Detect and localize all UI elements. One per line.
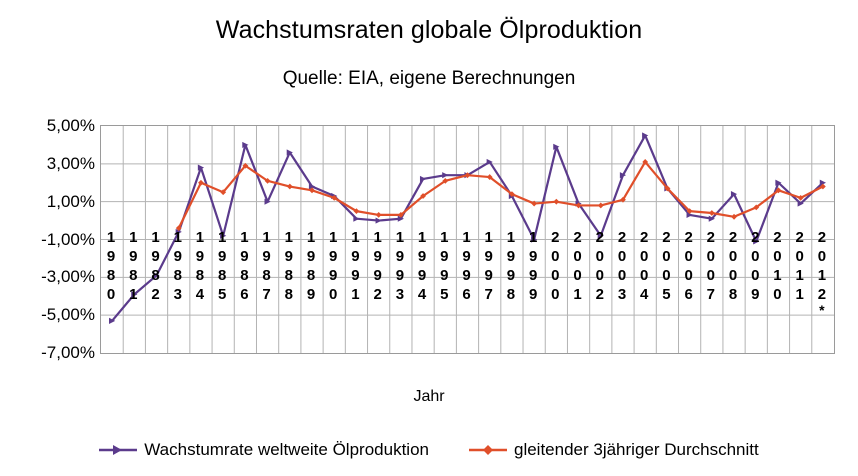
year-digit: 9 (456, 247, 478, 266)
x-tick-label: 2010 (766, 228, 788, 304)
data-point-marker (353, 216, 359, 222)
y-tick-label: 5,00% (3, 117, 95, 134)
year-digit: 2 (544, 228, 566, 247)
legend-item-average[interactable]: gleitender 3jähriger Durchschnitt (469, 440, 759, 460)
x-tick-label: 1983 (167, 228, 189, 304)
year-digit: 8 (300, 266, 322, 285)
year-digit: 0 (811, 247, 833, 266)
year-digit: 0 (678, 266, 700, 285)
year-digit: 0 (589, 247, 611, 266)
year-digit: 1 (233, 228, 255, 247)
year-digit: 6 (456, 285, 478, 304)
year-digit: 9 (522, 285, 544, 304)
year-digit: 0 (700, 247, 722, 266)
year-digit: 0 (722, 247, 744, 266)
year-digit: 2 (744, 228, 766, 247)
legend-swatch-diamond-icon (469, 443, 507, 457)
year-digit: 0 (322, 285, 344, 304)
year-digit: 1 (567, 285, 589, 304)
year-digit: 9 (322, 247, 344, 266)
year-digit: 1 (500, 228, 522, 247)
year-digit: 1 (122, 228, 144, 247)
year-digit: 9 (300, 285, 322, 304)
year-digit: 9 (433, 266, 455, 285)
year-digit: 1 (411, 228, 433, 247)
year-digit: 1 (300, 228, 322, 247)
year-digit: 2 (789, 228, 811, 247)
year-digit: 9 (433, 247, 455, 266)
x-tick-label: 1991 (344, 228, 366, 304)
year-digit: 7 (256, 285, 278, 304)
x-tick-label: 1998 (500, 228, 522, 304)
year-digit: 0 (766, 285, 788, 304)
year-digit: 8 (500, 285, 522, 304)
year-digit: 2 (633, 228, 655, 247)
year-digit: 0 (611, 266, 633, 285)
year-digit: 0 (100, 285, 122, 304)
year-digit: 9 (744, 285, 766, 304)
year-digit: 8 (211, 266, 233, 285)
x-tick-label: 1985 (211, 228, 233, 304)
data-point-marker (553, 199, 559, 205)
x-tick-label: 2007 (700, 228, 722, 304)
year-digit: 0 (700, 266, 722, 285)
year-digit: 5 (655, 285, 677, 304)
year-digit: 9 (256, 247, 278, 266)
year-digit: 2 (811, 228, 833, 247)
year-digit: 9 (211, 247, 233, 266)
year-digit: 0 (633, 266, 655, 285)
year-digit: 2 (766, 228, 788, 247)
x-tick-label: 2008 (722, 228, 744, 304)
x-axis-year-labels: 1980198119821983198419851986198719881989… (100, 228, 835, 348)
year-digit: 3 (611, 285, 633, 304)
year-digit: 9 (233, 247, 255, 266)
year-digit: 9 (389, 247, 411, 266)
year-digit: 0 (567, 247, 589, 266)
year-digit: 8 (122, 266, 144, 285)
year-digit: 9 (522, 247, 544, 266)
y-tick-label: -7,00% (3, 344, 95, 361)
x-tick-label: 1982 (145, 228, 167, 304)
year-digit: 9 (367, 266, 389, 285)
year-digit: 4 (189, 285, 211, 304)
chart-subtitle: Quelle: EIA, eigene Berechnungen (0, 68, 858, 90)
legend-label: gleitender 3jähriger Durchschnitt (514, 440, 759, 460)
year-digit: 0 (589, 266, 611, 285)
x-tick-label: 2000 (544, 228, 566, 304)
year-digit: 8 (233, 266, 255, 285)
year-digit: 0 (544, 285, 566, 304)
year-digit: 4 (411, 285, 433, 304)
year-digit: 8 (256, 266, 278, 285)
year-digit: 8 (278, 266, 300, 285)
y-tick-label: -3,00% (3, 268, 95, 285)
x-tick-label: 2003 (611, 228, 633, 304)
year-digit: 0 (655, 266, 677, 285)
x-tick-label: 2011 (789, 228, 811, 304)
year-digit: 7 (700, 285, 722, 304)
year-digit: 1 (522, 228, 544, 247)
year-digit: 8 (722, 285, 744, 304)
year-digit: 9 (278, 247, 300, 266)
x-tick-label: 2001 (567, 228, 589, 304)
y-tick-label: 1,00% (3, 193, 95, 210)
year-digit: 2 (567, 228, 589, 247)
year-digit: 1 (766, 266, 788, 285)
x-tick-label: 1987 (256, 228, 278, 304)
year-digit: 0 (633, 247, 655, 266)
year-digit: 2 (589, 228, 611, 247)
legend-label: Wachstumrate weltweite Ölproduktion (144, 440, 429, 460)
y-tick-label: -1,00% (3, 231, 95, 248)
year-digit: 9 (167, 247, 189, 266)
year-digit: 1 (322, 228, 344, 247)
year-digit: 2 (700, 228, 722, 247)
year-digit: 2 (655, 228, 677, 247)
year-digit: 9 (478, 247, 500, 266)
x-tick-label: 1990 (322, 228, 344, 304)
chart-page: Wachstumsraten globale Ölproduktion Quel… (0, 0, 858, 476)
year-digit: 8 (278, 285, 300, 304)
year-digit: 3 (389, 285, 411, 304)
year-digit: 8 (189, 266, 211, 285)
x-tick-label: 1995 (433, 228, 455, 304)
year-digit: 8 (145, 266, 167, 285)
legend-swatch-triangle-icon (99, 443, 137, 457)
year-digit: 1 (367, 228, 389, 247)
year-digit: 1 (189, 228, 211, 247)
year-digit: 9 (522, 266, 544, 285)
year-digit: 9 (500, 266, 522, 285)
year-digit: 9 (322, 266, 344, 285)
x-tick-label: 1986 (233, 228, 255, 304)
y-tick-label: -5,00% (3, 306, 95, 323)
x-tick-label: 2004 (633, 228, 655, 304)
year-digit: 1 (167, 228, 189, 247)
x-tick-label: 1984 (189, 228, 211, 304)
year-digit: 2 (678, 228, 700, 247)
year-digit: 0 (567, 266, 589, 285)
legend-item-growth[interactable]: Wachstumrate weltweite Ölproduktion (99, 440, 429, 460)
year-digit: 4 (633, 285, 655, 304)
year-digit: 1 (433, 228, 455, 247)
year-digit: 0 (744, 266, 766, 285)
year-digit: 1 (256, 228, 278, 247)
year-digit: 9 (344, 247, 366, 266)
x-tick-label: 2006 (678, 228, 700, 304)
year-digit: 7 (478, 285, 500, 304)
year-digit: 8 (167, 266, 189, 285)
year-digit: 2 (589, 285, 611, 304)
year-digit: 0 (544, 266, 566, 285)
year-digit: 9 (100, 247, 122, 266)
x-tick-label: 1989 (300, 228, 322, 304)
year-digit: 1 (344, 228, 366, 247)
data-point-marker (287, 184, 293, 190)
chart-legend: Wachstumrate weltweite Ölproduktiongleit… (0, 440, 858, 460)
year-digit: 0 (655, 247, 677, 266)
data-point-marker (376, 217, 382, 223)
x-tick-label: 2002 (589, 228, 611, 304)
year-digit: 9 (300, 247, 322, 266)
year-digit: 0 (766, 247, 788, 266)
year-digit: 2 (145, 285, 167, 304)
x-tick-label: 1994 (411, 228, 433, 304)
year-digit: 9 (500, 247, 522, 266)
x-tick-label: 2009 (744, 228, 766, 304)
year-digit: 9 (145, 247, 167, 266)
year-digit: 1 (389, 228, 411, 247)
year-digit: 1 (811, 266, 833, 285)
x-tick-label: 1981 (122, 228, 144, 304)
year-digit: 9 (411, 247, 433, 266)
year-digit: 1 (456, 228, 478, 247)
year-digit: 0 (678, 247, 700, 266)
year-digit: 1 (478, 228, 500, 247)
year-digit: 0 (722, 266, 744, 285)
year-digit: 6 (233, 285, 255, 304)
year-digit: 0 (544, 247, 566, 266)
data-point-marker (598, 203, 604, 209)
y-tick-label: 3,00% (3, 155, 95, 172)
year-digit: 9 (122, 247, 144, 266)
x-tick-label: 1993 (389, 228, 411, 304)
x-tick-label: 2012* (811, 228, 833, 316)
year-digit: 6 (678, 285, 700, 304)
x-tick-label: 1992 (367, 228, 389, 304)
year-digit: 9 (456, 266, 478, 285)
year-digit: 9 (367, 247, 389, 266)
year-digit: 1 (789, 285, 811, 304)
year-digit: 0 (744, 247, 766, 266)
year-digit: 9 (389, 266, 411, 285)
year-digit: 1 (100, 228, 122, 247)
year-digit: 2 (367, 285, 389, 304)
year-digit: 2 (722, 228, 744, 247)
year-digit: 1 (211, 228, 233, 247)
year-digit: 1 (278, 228, 300, 247)
year-digit: 9 (189, 247, 211, 266)
x-tick-label: 1988 (278, 228, 300, 304)
year-digit: 9 (344, 266, 366, 285)
year-digit: 1 (789, 266, 811, 285)
data-point-marker (442, 172, 448, 178)
year-digit: 5 (211, 285, 233, 304)
year-digit: 1 (122, 285, 144, 304)
chart-title: Wachstumsraten globale Ölproduktion (0, 16, 858, 45)
x-tick-label: 1996 (456, 228, 478, 304)
x-tick-label: 1997 (478, 228, 500, 304)
year-digit: 0 (789, 247, 811, 266)
x-tick-label: 1999 (522, 228, 544, 304)
year-digit: 9 (411, 266, 433, 285)
year-asterisk: * (811, 304, 833, 316)
year-digit: 2 (611, 228, 633, 247)
year-digit: 1 (145, 228, 167, 247)
x-tick-label: 2005 (655, 228, 677, 304)
year-digit: 3 (167, 285, 189, 304)
x-axis-title: Jahr (0, 388, 858, 406)
year-digit: 0 (611, 247, 633, 266)
year-digit: 9 (478, 266, 500, 285)
year-digit: 1 (344, 285, 366, 304)
data-point-marker (376, 212, 382, 218)
year-digit: 8 (100, 266, 122, 285)
year-digit: 5 (433, 285, 455, 304)
x-tick-label: 1980 (100, 228, 122, 304)
